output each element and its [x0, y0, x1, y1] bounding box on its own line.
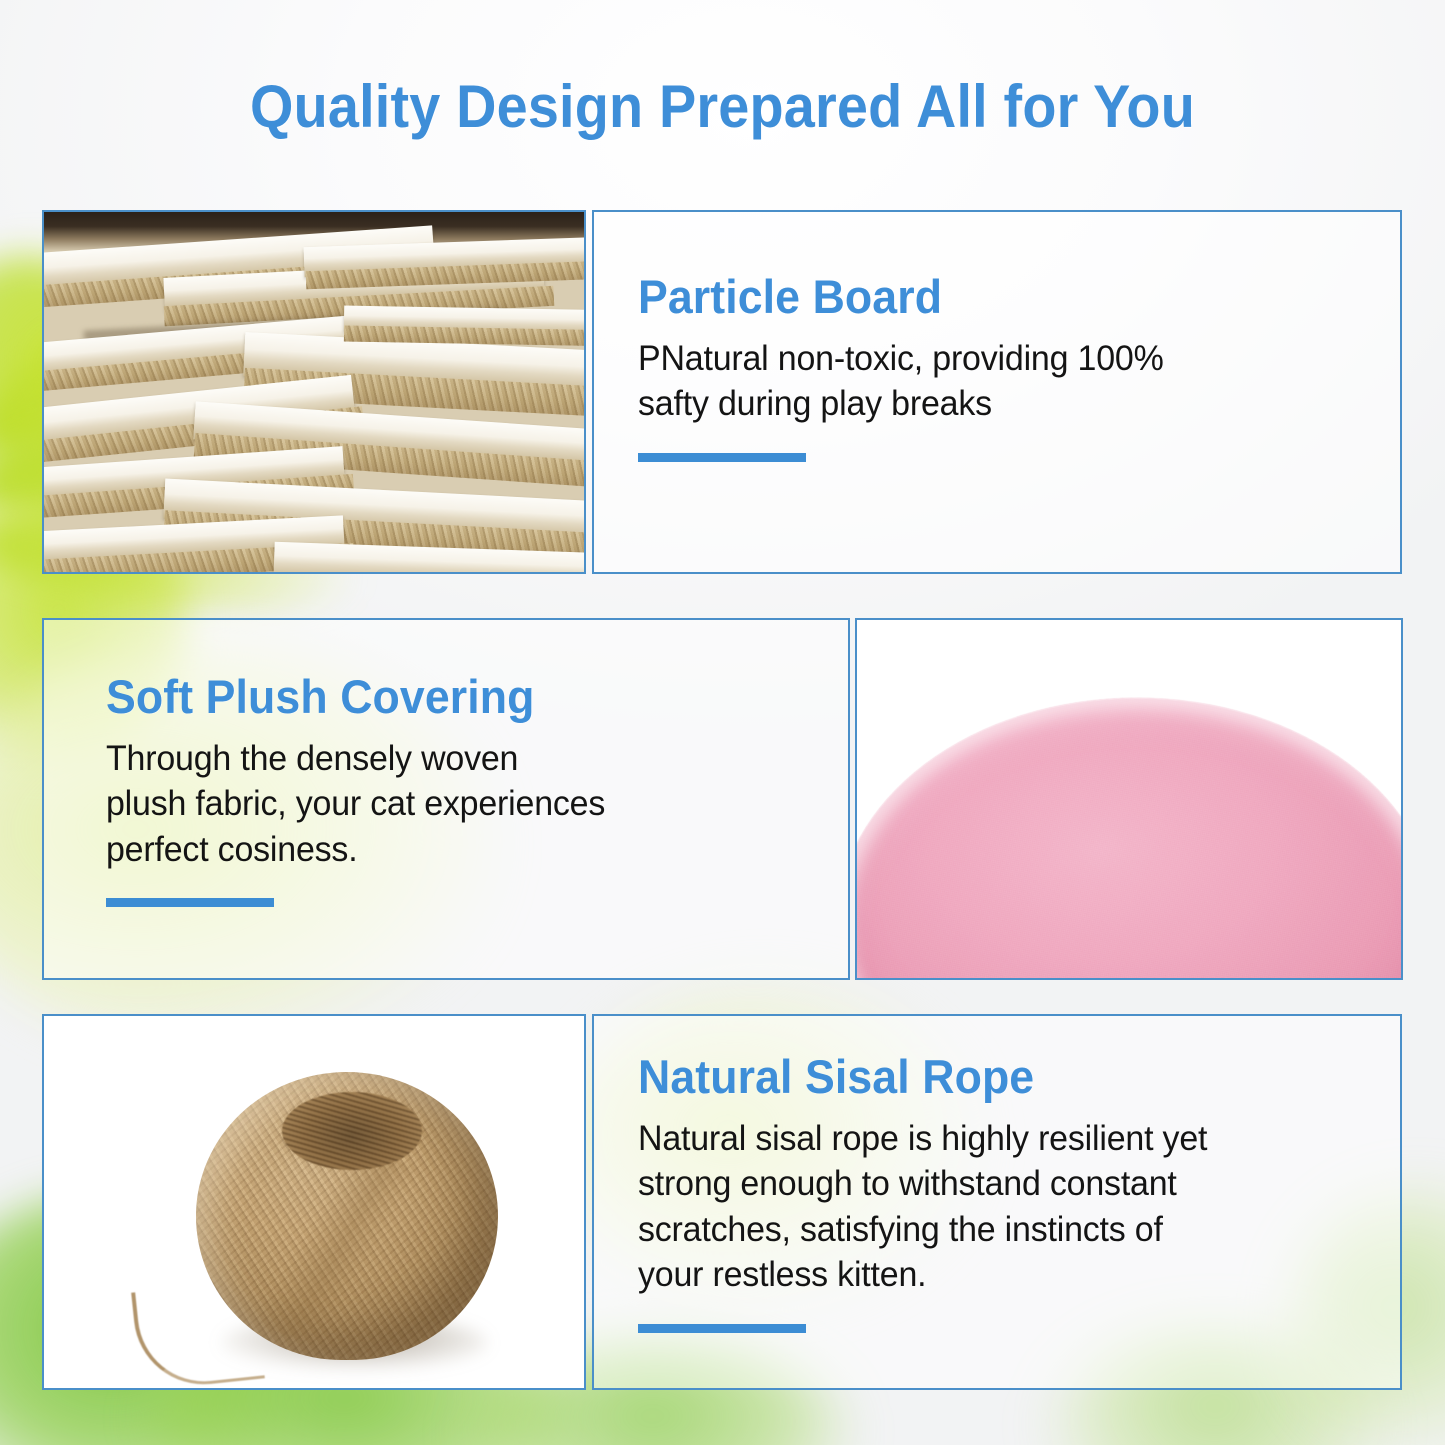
plush-mat-edge-glow: [855, 698, 1403, 980]
card-body-particle-board: PNatural non-toxic, providing 100% safty…: [638, 336, 1344, 427]
sisal-rope-photo: [44, 1016, 584, 1388]
rope-ball-core: [282, 1092, 422, 1170]
card-body-line: scratches, satisfying the instincts of: [638, 1207, 1344, 1253]
card-body-line: strong enough to withstand constant: [638, 1161, 1344, 1207]
plush-fabric-photo: [857, 620, 1401, 978]
card-body-sisal-rope: Natural sisal rope is highly resilient y…: [638, 1116, 1344, 1298]
card-soft-plush-image: [855, 618, 1403, 980]
page-title: Quality Design Prepared All for You: [51, 72, 1395, 141]
accent-bar-sisal-rope: [638, 1324, 806, 1333]
card-body-line: safty during play breaks: [638, 381, 1344, 427]
card-body-line: plush fabric, your cat experiences: [106, 781, 793, 827]
card-soft-plush-text: Soft Plush Covering Through the densely …: [42, 618, 850, 980]
card-sisal-rope-text: Natural Sisal Rope Natural sisal rope is…: [592, 1014, 1402, 1390]
card-body-soft-plush: Through the densely woven plush fabric, …: [106, 736, 793, 873]
card-body-line: Through the densely woven: [106, 736, 793, 782]
infographic-poster: Quality Design Prepared All for You: [0, 0, 1445, 1445]
card-body-line: Natural sisal rope is highly resilient y…: [638, 1116, 1344, 1162]
accent-bar-particle-board: [638, 453, 806, 462]
card-body-line: PNatural non-toxic, providing 100%: [638, 336, 1344, 382]
card-particle-board-image: [42, 210, 586, 574]
card-sisal-rope-image: [42, 1014, 586, 1390]
card-body-line: perfect cosiness.: [106, 827, 793, 873]
rope-loose-strand: [131, 1280, 265, 1390]
card-body-line: your restless kitten.: [638, 1252, 1344, 1298]
accent-bar-soft-plush: [106, 898, 274, 907]
card-title-sisal-rope: Natural Sisal Rope: [638, 1052, 1330, 1102]
card-particle-board-text: Particle Board PNatural non-toxic, provi…: [592, 210, 1402, 574]
particle-board-photo: [44, 212, 584, 572]
card-title-particle-board: Particle Board: [638, 272, 1330, 322]
card-title-soft-plush: Soft Plush Covering: [106, 672, 779, 722]
